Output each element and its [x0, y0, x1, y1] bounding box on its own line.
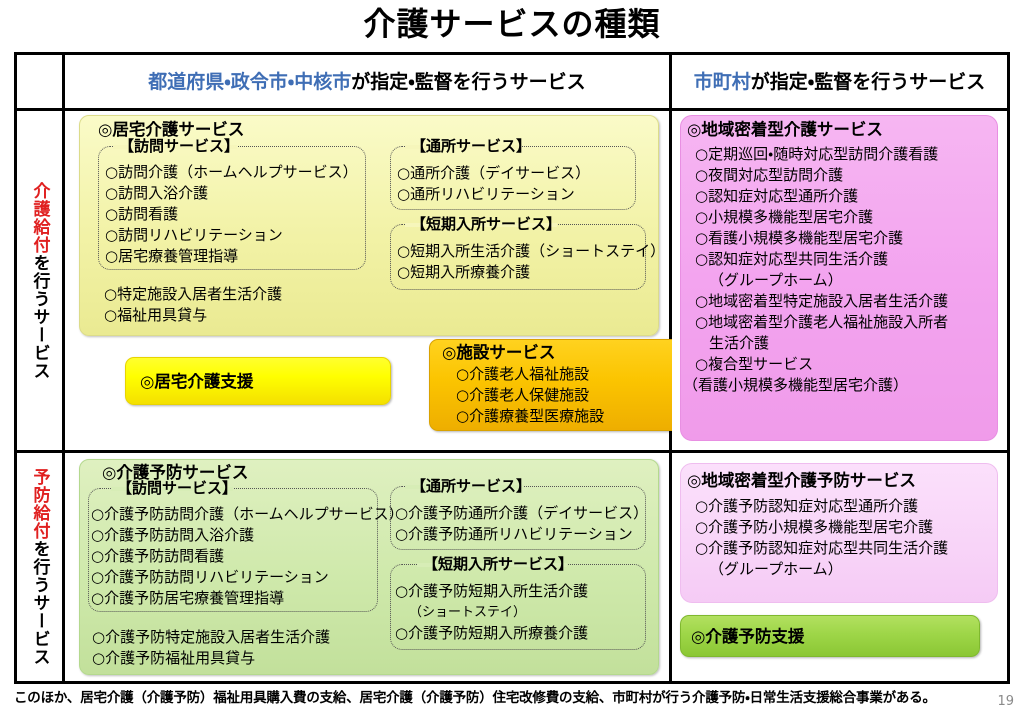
yobo-support-heading: ◎介護予防支援	[691, 626, 804, 648]
list-item: ○訪問リハビリテーション	[105, 225, 361, 246]
kyotaku-support-heading: ◎居宅介護支援	[140, 371, 253, 393]
header-prefecture-entity: 都道府県・政令市・中核市	[148, 69, 351, 95]
list-item: ○介護予防認知症対応型共同生活介護	[695, 538, 948, 559]
list-item: ○地域密着型介護老人福祉施設入所者	[695, 312, 948, 333]
yobo-visit-group-title: 【訪問サービス】	[115, 477, 239, 499]
yobo-service-panel: ◎介護予防サービス 【訪問サービス】 ○介護予防訪問介護（ホームヘルプサービス）…	[79, 459, 659, 675]
yobo-support-panel: ◎介護予防支援	[680, 615, 980, 657]
list-item: ○定期巡回・随時対応型訪問介護看護	[695, 144, 948, 165]
list-item: ○介護予防認知症対応型通所介護	[695, 496, 948, 517]
footnote: このほか、居宅介護（介護予防）福祉用具購入費の支給、居宅介護（介護予防）住宅改修…	[14, 688, 974, 708]
list-item: （ショートステイ）	[395, 602, 641, 623]
list-item: ○認知症対応型通所介護	[695, 186, 948, 207]
chiiki-mitchaku-panel: ◎地域密着型介護サービス ○定期巡回・随時対応型訪問介護看護 ○夜間対応型訪問介…	[680, 115, 998, 441]
list-item: ○介護予防通所介護（デイサービス）	[395, 503, 641, 524]
kyotaku-short-group: 【短期入所サービス】 ○短期入所生活介護（ショートステイ） ○短期入所療養介護	[390, 224, 646, 290]
yobo-short-group-title: 【短期入所サービス】	[421, 553, 575, 575]
header-municipality-rest: が指定・監督を行うサービス	[751, 69, 985, 95]
slide-page: 介護サービスの種類 都道府県・政令市・中核市が指定・監督を行うサービス 市町村が…	[0, 0, 1024, 714]
list-item: ○介護予防訪問リハビリテーション	[91, 567, 373, 588]
list-item: ○介護予防短期入所療養介護	[395, 623, 641, 644]
list-item: （グループホーム）	[695, 270, 948, 291]
list-item: ○介護予防小規模多機能型居宅介護	[695, 517, 948, 538]
kyotaku-day-group: 【通所サービス】 ○通所介護（デイサービス） ○通所リハビリテーション	[390, 146, 636, 210]
list-item: ○居宅療養管理指導	[105, 246, 361, 267]
yobo-visit-group: 【訪問サービス】 ○介護予防訪問介護（ホームヘルプサービス） ○介護予防訪問入浴…	[88, 488, 378, 612]
yobo-label-highlight: 予防給付	[30, 468, 50, 540]
list-item: ○介護老人保健施設	[456, 385, 604, 406]
header-municipality-cell: 市町村が指定・監督を行うサービス	[672, 55, 1007, 108]
list-item: ○看護小規模多機能型居宅介護	[695, 228, 948, 249]
list-item: ○介護予防通所リハビリテーション	[395, 524, 641, 545]
list-item: ○訪問入浴介護	[105, 183, 361, 204]
list-item: ○通所リハビリテーション	[397, 184, 631, 205]
kyotaku-support-panel: ◎居宅介護支援	[125, 357, 391, 405]
list-item: ○小規模多機能型居宅介護	[695, 207, 948, 228]
header-corner-cell	[17, 55, 65, 108]
shisetsu-service-panel: ◎施設サービス ○介護老人福祉施設 ○介護老人保健施設 ○介護療養型医療施設	[429, 339, 709, 431]
list-item: ○介護予防訪問入浴介護	[91, 525, 373, 546]
list-item: ○認知症対応型共同生活介護	[695, 249, 948, 270]
list-item: ○福祉用具貸与	[104, 305, 282, 326]
services-table: 都道府県・政令市・中核市が指定・監督を行うサービス 市町村が指定・監督を行うサー…	[14, 52, 1010, 684]
list-item: ○介護療養型医療施設	[456, 406, 604, 427]
list-item: ○短期入所療養介護	[397, 262, 641, 283]
kaigo-municipality-cell: ◎地域密着型介護サービス ○定期巡回・随時対応型訪問介護看護 ○夜間対応型訪問介…	[672, 111, 1007, 450]
kyotaku-short-group-title: 【短期入所サービス】	[409, 213, 563, 235]
list-item: ○介護予防福祉用具貸与	[92, 648, 330, 669]
header-prefecture-rest: が指定・監督を行うサービス	[351, 69, 585, 95]
header-prefecture-cell: 都道府県・政令市・中核市が指定・監督を行うサービス	[65, 55, 672, 108]
list-item: ○介護老人福祉施設	[456, 364, 604, 385]
kyotaku-day-group-title: 【通所サービス】	[409, 135, 533, 157]
kyotaku-visit-group: 【訪問サービス】 ○訪問介護（ホームヘルプサービス） ○訪問入浴介護 ○訪問看護…	[98, 146, 366, 270]
list-item: ○通所介護（デイサービス）	[397, 163, 631, 184]
list-item: ○特定施設入居者生活介護	[104, 284, 282, 305]
list-item: ○介護予防訪問介護（ホームヘルプサービス）	[91, 504, 373, 525]
kyotaku-visit-group-title: 【訪問サービス】	[117, 135, 241, 157]
page-number: 19	[997, 694, 1014, 709]
yobo-label-rest: を行うサービス	[30, 540, 50, 666]
list-item: （看護小規模多機能型居宅介護）	[683, 375, 948, 396]
yobo-day-group: 【通所サービス】 ○介護予防通所介護（デイサービス） ○介護予防通所リハビリテー…	[390, 486, 646, 550]
yobo-prefecture-cell: ◎介護予防サービス 【訪問サービス】 ○介護予防訪問介護（ホームヘルプサービス）…	[65, 453, 672, 681]
list-item: ○夜間対応型訪問介護	[695, 165, 948, 186]
list-item: ○介護予防特定施設入居者生活介護	[92, 627, 330, 648]
chiiki-mitchaku-yobo-panel: ◎地域密着型介護予防サービス ○介護予防認知症対応型通所介護 ○介護予防小規模多…	[680, 463, 998, 603]
yobo-day-group-title: 【通所サービス】	[409, 475, 533, 497]
chiiki-mitchaku-yobo-heading: ◎地域密着型介護予防サービス	[687, 470, 916, 492]
list-item: ○地域密着型特定施設入居者生活介護	[695, 291, 948, 312]
kaigo-benefit-row: 介護給付を行うサービス ◎居宅介護サービス 【訪問サービス】 ○訪問介護（ホーム…	[17, 111, 1007, 453]
table-header-row: 都道府県・政令市・中核市が指定・監督を行うサービス 市町村が指定・監督を行うサー…	[17, 55, 1007, 111]
yobo-municipality-cell: ◎地域密着型介護予防サービス ○介護予防認知症対応型通所介護 ○介護予防小規模多…	[672, 453, 1007, 681]
shisetsu-heading: ◎施設サービス	[442, 342, 555, 364]
yobo-row-label-cell: 予防給付を行うサービス	[17, 453, 65, 681]
list-item: ○介護予防訪問看護	[91, 546, 373, 567]
list-item: ○介護予防短期入所生活介護	[395, 581, 641, 602]
list-item: ○短期入所生活介護（ショートステイ）	[397, 241, 641, 262]
list-item: ○訪問看護	[105, 204, 361, 225]
list-item: （グループホーム）	[695, 559, 948, 580]
kaigo-label-rest: を行うサービス	[30, 254, 50, 380]
kyotaku-service-panel: ◎居宅介護サービス 【訪問サービス】 ○訪問介護（ホームヘルプサービス） ○訪問…	[79, 115, 659, 336]
yobo-benefit-row: 予防給付を行うサービス ◎介護予防サービス 【訪問サービス】 ○介護予防訪問介護…	[17, 453, 1007, 681]
header-municipality-entity: 市町村	[694, 69, 751, 95]
kaigo-row-label-cell: 介護給付を行うサービス	[17, 111, 65, 450]
list-item: ○介護予防居宅療養管理指導	[91, 588, 373, 609]
list-item: ○訪問介護（ホームヘルプサービス）	[105, 162, 361, 183]
chiiki-mitchaku-heading: ◎地域密着型介護サービス	[687, 119, 883, 141]
list-item: ○複合型サービス	[695, 354, 948, 375]
kaigo-label-highlight: 介護給付	[30, 182, 50, 254]
list-item: 生活介護	[695, 333, 948, 354]
page-title: 介護サービスの種類	[0, 2, 1024, 46]
kaigo-prefecture-cell: ◎居宅介護サービス 【訪問サービス】 ○訪問介護（ホームヘルプサービス） ○訪問…	[65, 111, 672, 450]
yobo-short-group: 【短期入所サービス】 ○介護予防短期入所生活介護 （ショートステイ） ○介護予防…	[390, 564, 646, 650]
